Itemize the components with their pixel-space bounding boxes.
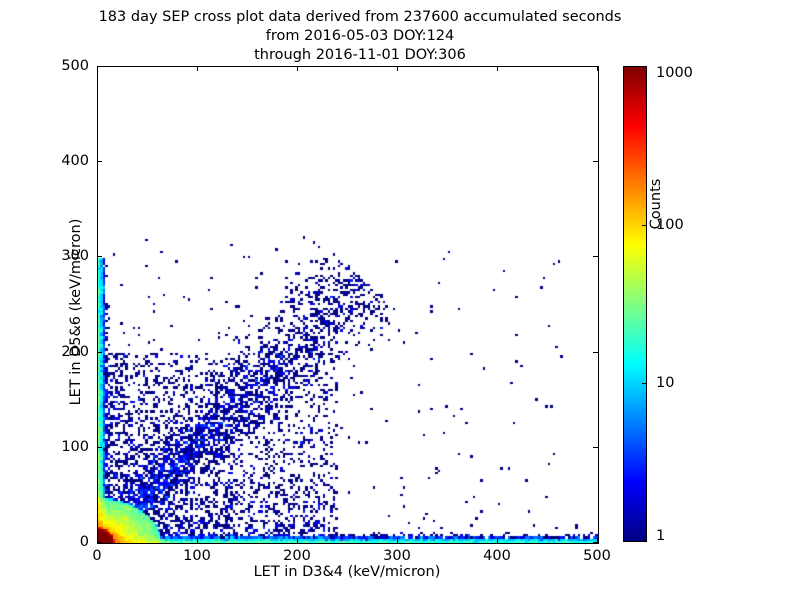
colorbar: 1101001000 xyxy=(623,66,647,542)
figure-canvas: 183 day SEP cross plot data derived from… xyxy=(0,0,800,600)
x-tick-mark xyxy=(497,538,498,543)
y-tick-mark-right xyxy=(593,447,598,448)
y-tick-mark xyxy=(97,161,102,162)
x-tick-label: 300 xyxy=(383,548,411,564)
x-tick-mark-top xyxy=(297,66,298,71)
x-tick-mark-top xyxy=(497,66,498,71)
x-tick-mark-top xyxy=(197,66,198,71)
x-tick-label: 200 xyxy=(283,548,311,564)
y-tick-mark xyxy=(97,66,102,67)
title-line-2: from 2016-05-03 DOY:124 xyxy=(0,27,720,46)
colorbar-label: Counts xyxy=(648,144,664,264)
colorbar-tick-label: 1 xyxy=(656,528,665,544)
x-tick-label: 0 xyxy=(92,548,101,564)
title-line-1: 183 day SEP cross plot data derived from… xyxy=(0,8,720,27)
colorbar-tick-mark xyxy=(642,225,647,226)
y-tick-mark-right xyxy=(593,256,598,257)
x-axis-label: LET in D3&4 (keV/micron) xyxy=(97,564,597,580)
scatter-plot-canvas xyxy=(98,67,598,543)
plot-axes-frame xyxy=(97,66,599,544)
y-tick-mark xyxy=(97,447,102,448)
y-tick-mark xyxy=(97,256,102,257)
y-tick-mark-right xyxy=(593,352,598,353)
colorbar-tick-mark xyxy=(642,383,647,384)
x-tick-label: 500 xyxy=(583,548,611,564)
title-line-3: through 2016-11-01 DOY:306 xyxy=(0,46,720,65)
y-tick-mark-right xyxy=(593,66,598,67)
y-tick-label: 500 xyxy=(33,58,89,74)
y-tick-mark-right xyxy=(593,542,598,543)
y-tick-mark xyxy=(97,542,102,543)
y-axis-label: LET in D5&6 (keV/micron) xyxy=(68,74,84,550)
y-tick-mark-right xyxy=(593,161,598,162)
y-tick-mark xyxy=(97,352,102,353)
x-tick-label: 400 xyxy=(483,548,511,564)
x-tick-mark xyxy=(197,538,198,543)
x-tick-mark xyxy=(397,538,398,543)
x-tick-mark-top xyxy=(397,66,398,71)
x-tick-mark xyxy=(297,538,298,543)
x-tick-label: 100 xyxy=(183,548,211,564)
colorbar-gradient xyxy=(623,66,647,542)
plot-title: 183 day SEP cross plot data derived from… xyxy=(0,8,720,65)
colorbar-tick-label: 10 xyxy=(656,375,674,391)
colorbar-tick-label: 1000 xyxy=(656,65,693,81)
